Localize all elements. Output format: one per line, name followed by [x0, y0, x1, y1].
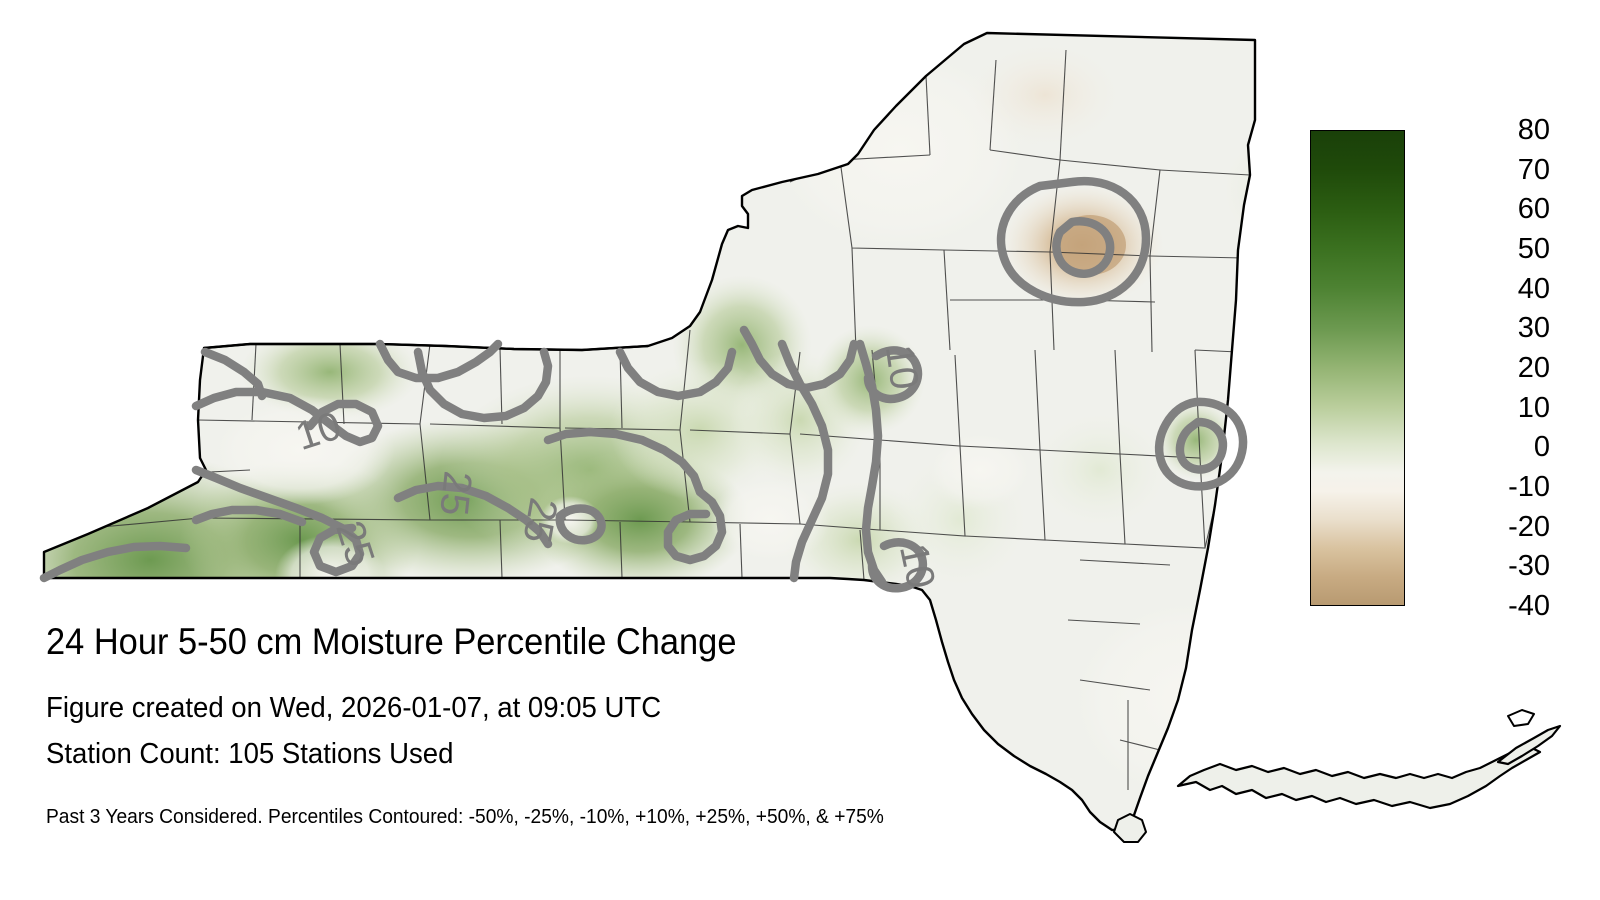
- colorbar-tick: 70: [1518, 156, 1550, 185]
- figure-title: 24 Hour 5-50 cm Moisture Percentile Chan…: [46, 620, 1041, 664]
- contour-label-10-north: 10: [877, 342, 927, 392]
- colorbar-tick: 0: [1534, 433, 1550, 462]
- figure-created-timestamp: Figure created on Wed, 2026-01-07, at 09…: [46, 690, 1063, 726]
- colorbar-tick-labels: 80 70 60 50 40 30 20 10 0 -10 -20 -30 -4…: [1408, 120, 1560, 620]
- colorbar-tick: 80: [1518, 116, 1550, 145]
- contour-footnote: Past 3 Years Considered. Percentiles Con…: [46, 804, 1073, 830]
- field-neutral-5: [925, 430, 1035, 510]
- colorbar-tick: -40: [1508, 592, 1550, 621]
- colorbar-tick: 40: [1518, 275, 1550, 304]
- colorbar-tick: 60: [1518, 195, 1550, 224]
- colorbar-tick: 20: [1518, 354, 1550, 383]
- contour-label-25-b: 25: [514, 495, 565, 546]
- colorbar-gradient: [1310, 130, 1405, 606]
- figure-captions: 24 Hour 5-50 cm Moisture Percentile Chan…: [46, 620, 1116, 830]
- colorbar-tick: 30: [1518, 314, 1550, 343]
- colorbar-tick: 50: [1518, 235, 1550, 264]
- station-count-text: Station Count: 105 Stations Used: [46, 736, 1063, 772]
- colorbar-tick: -20: [1508, 513, 1550, 542]
- colorbar-tick: -30: [1508, 552, 1550, 581]
- field-blob-capital-halo: [1030, 410, 1170, 530]
- colorbar-tick: 10: [1518, 394, 1550, 423]
- colorbar-tick: -10: [1508, 473, 1550, 502]
- contour-label-25-a: 25: [431, 469, 479, 518]
- colorbar: 80 70 60 50 40 30 20 10 0 -10 -20 -30 -4…: [1310, 120, 1560, 620]
- contour-label-10-south: 10: [891, 540, 943, 593]
- field-blob-dry-faint-north: [965, 40, 1125, 150]
